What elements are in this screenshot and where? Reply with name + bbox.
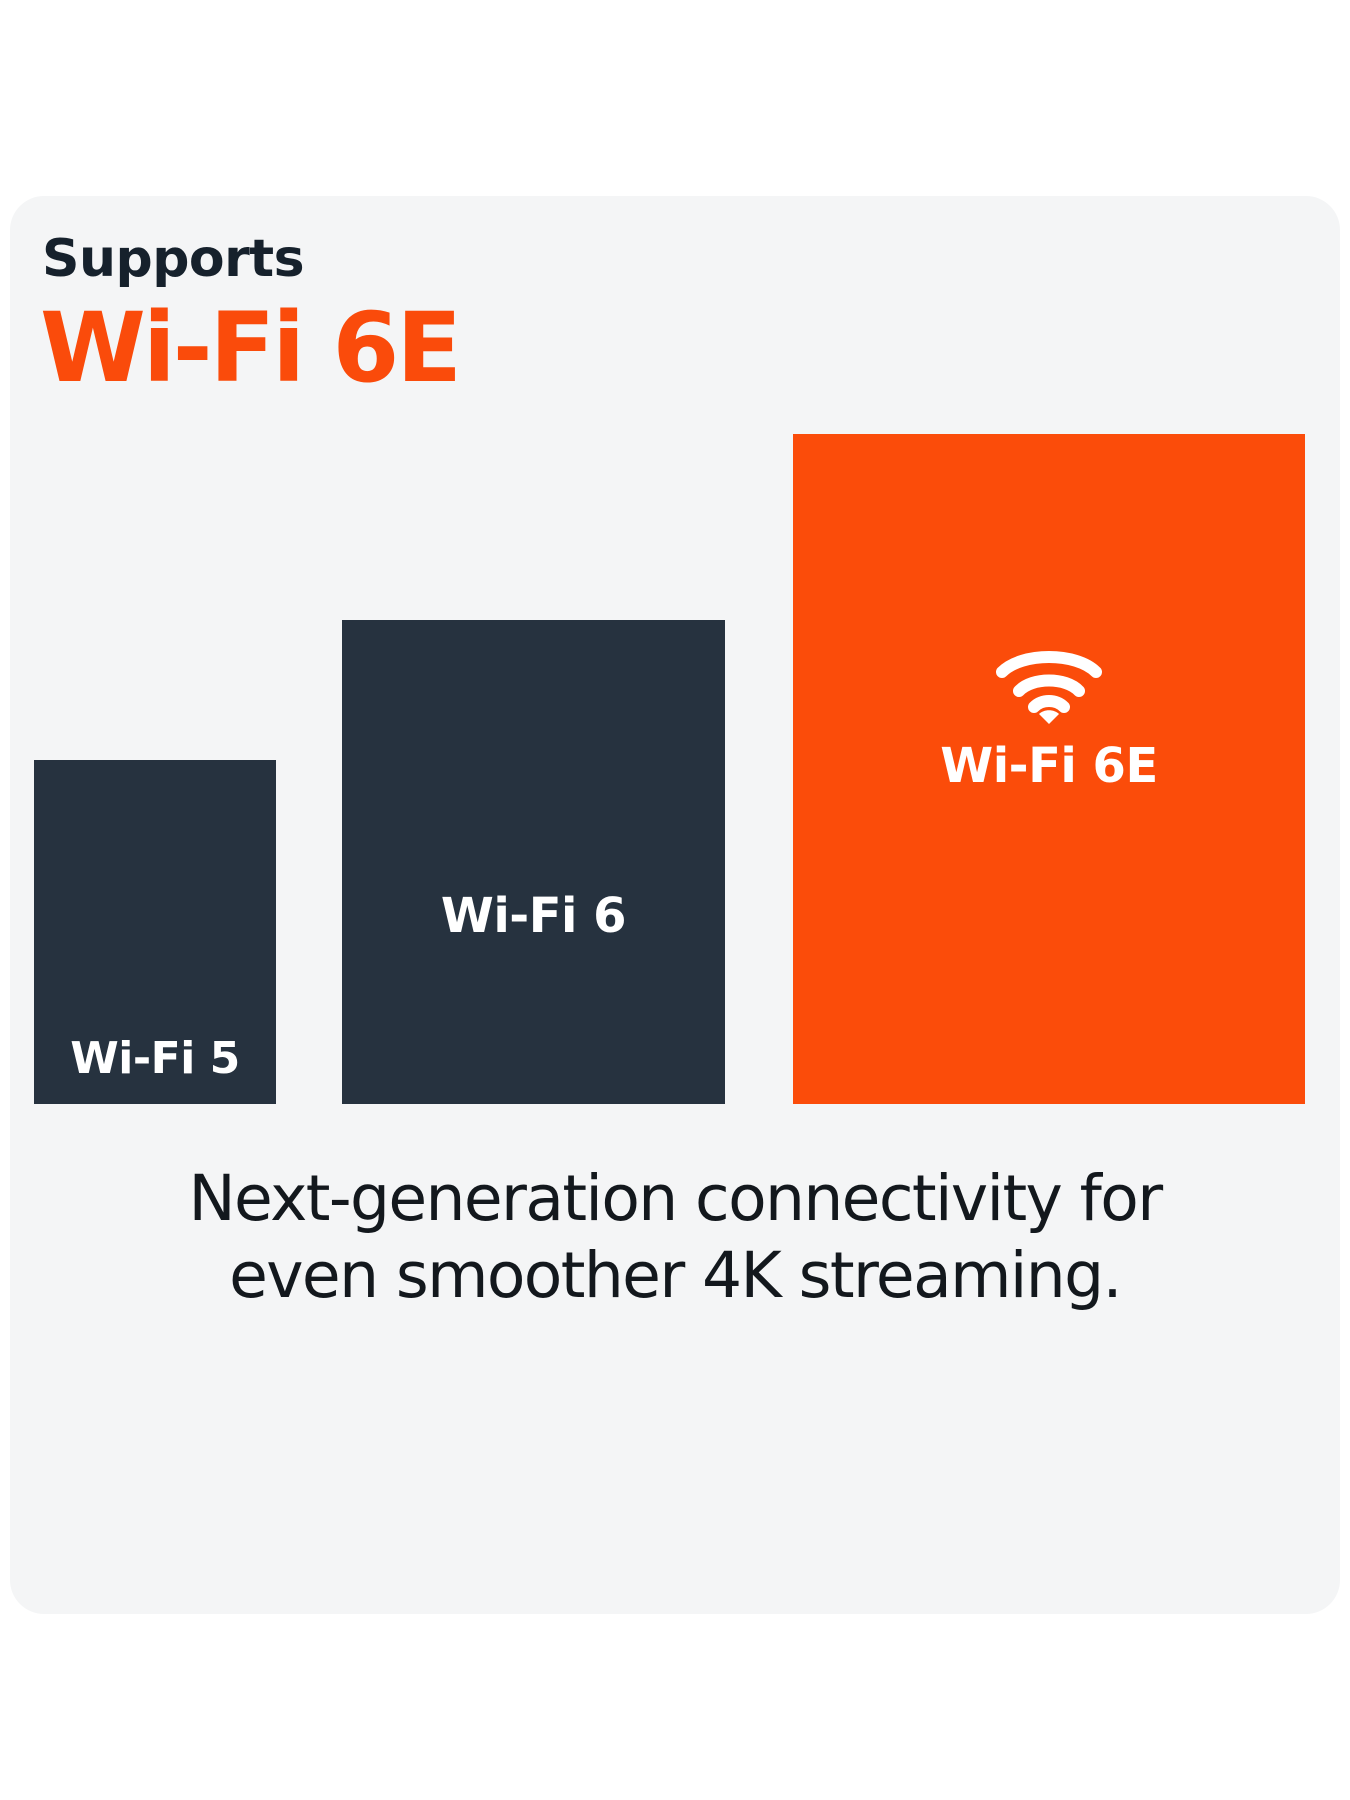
wifi-comparison-bar-chart: Wi-Fi 5 Wi-Fi 6 Wi-Fi 6E [10, 196, 1340, 1614]
bar-wifi-6e: Wi-Fi 6E [793, 434, 1305, 1104]
promo-canvas: Supports Wi-Fi 6E Wi-Fi 5 Wi-Fi 6 [0, 0, 1350, 1800]
caption: Next-generation connectivity for even sm… [10, 1161, 1340, 1315]
wifi-icon [994, 644, 1104, 726]
bar-label-wifi-5: Wi-Fi 5 [34, 1033, 276, 1084]
bar-wifi-6: Wi-Fi 6 [342, 620, 725, 1104]
bar-wifi-5: Wi-Fi 5 [34, 760, 276, 1104]
feature-card: Supports Wi-Fi 6E Wi-Fi 5 Wi-Fi 6 [10, 196, 1340, 1614]
bar-label-wifi-6e: Wi-Fi 6E [793, 738, 1305, 794]
caption-line-1: Next-generation connectivity for [62, 1161, 1288, 1238]
bar-label-wifi-6: Wi-Fi 6 [342, 888, 725, 944]
caption-line-2: even smoother 4K streaming. [62, 1238, 1288, 1315]
